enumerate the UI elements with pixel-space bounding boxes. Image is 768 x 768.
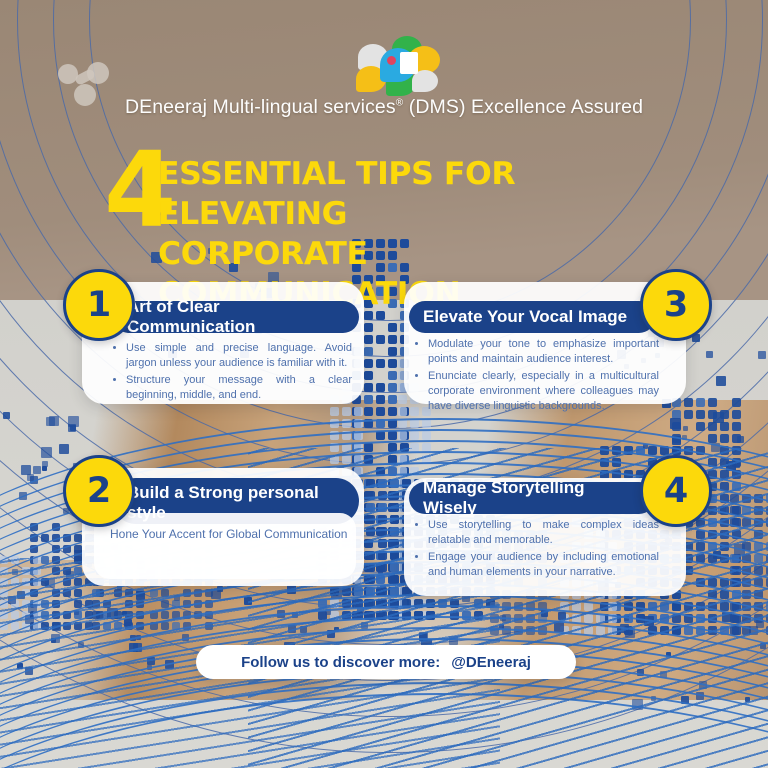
tip-card-2-badge: 2 (63, 455, 135, 527)
list-item: Engage your audience by including emotio… (428, 550, 659, 580)
tip-card-4-body: Use storytelling to make complex ideas r… (414, 518, 659, 582)
follow-banner[interactable]: Follow us to discover more: @DEneeraj (196, 645, 576, 679)
list-item: Use simple and precise language. Avoid j… (126, 341, 352, 371)
tip-card-2-body-panel (94, 513, 356, 579)
brand-tagline: DEneeraj Multi-lingual services® (DMS) E… (0, 96, 768, 119)
title-line-1: ESSENTIAL TIPS FOR ELEVATING (158, 154, 678, 234)
tip-card-3-body: Modulate your tone to emphasize importan… (414, 337, 659, 416)
follow-label: Follow us to discover more: (241, 654, 440, 671)
brand-name: DEneeraj Multi-lingual services (125, 96, 396, 118)
list-item: Enunciate clearly, especially in a multi… (428, 369, 659, 414)
tip-card-1-body: Use simple and precise language. Avoid j… (112, 341, 352, 405)
tip-card-3-badge: 3 (640, 269, 712, 341)
list-item: Modulate your tone to emphasize importan… (428, 337, 659, 367)
tip-card-1-badge: 1 (63, 269, 135, 341)
page-title: 4 ESSENTIAL TIPS FOR ELEVATING CORPORATE… (0, 146, 768, 242)
tip-card-3-heading-text: Elevate Your Vocal Image (423, 307, 641, 327)
people-speech-bubbles-icon (356, 36, 460, 98)
tip-card-4-heading: Manage Storytelling Wisely (409, 482, 655, 514)
list-item: Use storytelling to make complex ideas r… (428, 518, 659, 548)
tip-card-3-heading: Elevate Your Vocal Image (409, 301, 655, 333)
list-item: Hone Your Accent for Global Communicatio… (110, 526, 350, 543)
social-handle: @DEneeraj (451, 654, 531, 671)
tip-card-1-heading-text: Art of Clear Communication (127, 301, 345, 333)
brand-suffix: (DMS) Excellence Assured (403, 96, 643, 118)
tip-card-4-heading-text: Manage Storytelling Wisely (423, 482, 641, 514)
list-item: Structure your message with a clear begi… (126, 373, 352, 403)
infographic-poster: DEneeraj Multi-lingual services® (DMS) E… (0, 0, 768, 768)
tip-card-2-body: Hone Your Accent for Global Communicatio… (110, 526, 350, 543)
tip-card-1-heading: Art of Clear Communication (113, 301, 359, 333)
tip-card-4-badge: 4 (640, 455, 712, 527)
